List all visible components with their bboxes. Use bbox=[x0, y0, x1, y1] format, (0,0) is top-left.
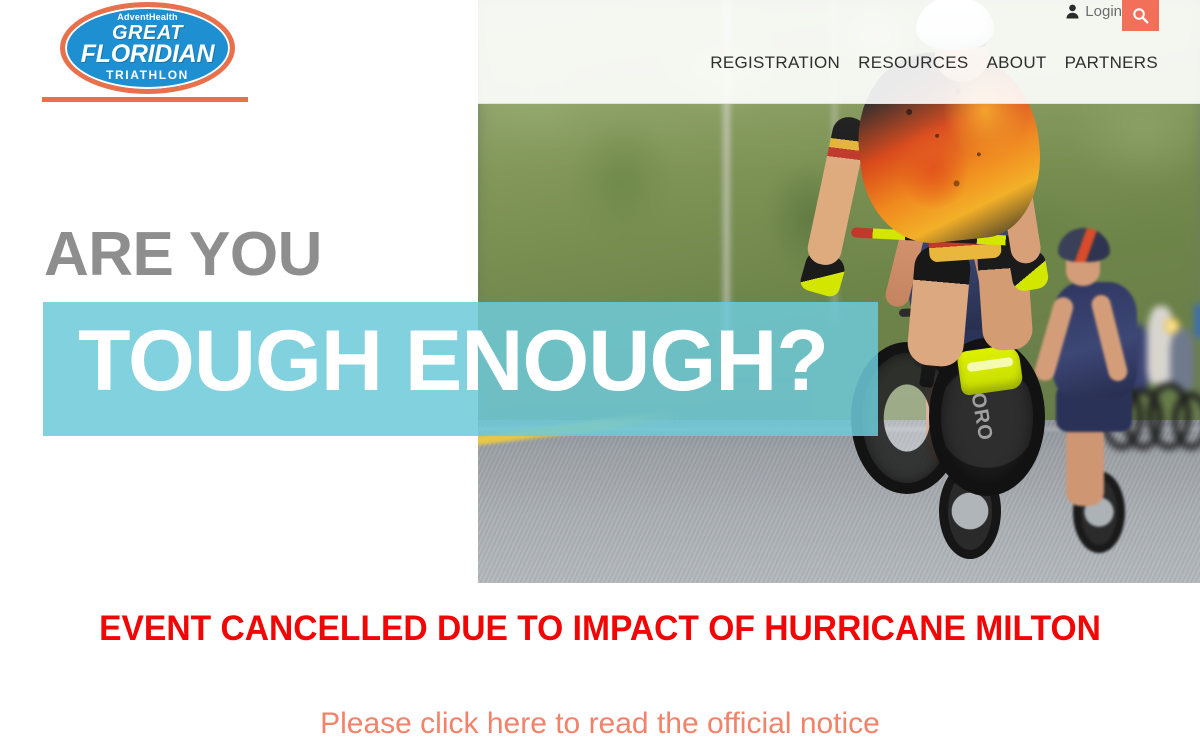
search-icon bbox=[1132, 7, 1149, 24]
nav-item-about[interactable]: ABOUT bbox=[987, 53, 1047, 73]
cancellation-notice: EVENT CANCELLED DUE TO IMPACT OF HURRICA… bbox=[24, 608, 1176, 651]
pack-rider bbox=[1170, 328, 1194, 390]
logo-line-floridian: FLORIDIAN bbox=[81, 43, 214, 67]
hero-headline-text: TOUGH ENOUGH? bbox=[78, 311, 828, 412]
logo-sponsor-text: AdventHealth bbox=[117, 13, 177, 22]
main-navigation: REGISTRATION RESOURCES ABOUT PARTNERS bbox=[710, 53, 1158, 73]
search-button[interactable] bbox=[1122, 0, 1159, 31]
wheel-branding: ORO bbox=[928, 391, 994, 441]
roadside-object bbox=[1194, 304, 1200, 338]
login-label: Login bbox=[1085, 4, 1122, 19]
hero-kicker-text: ARE YOU bbox=[44, 224, 322, 286]
nav-item-registration[interactable]: REGISTRATION bbox=[710, 53, 840, 73]
login-link[interactable]: Login bbox=[1066, 4, 1122, 19]
logo-oval-badge: AdventHealth GREAT FLORIDIAN TRIATHLON bbox=[60, 2, 235, 94]
logo-accent-bar bbox=[42, 97, 248, 102]
person-icon bbox=[1066, 4, 1079, 19]
official-notice-link[interactable]: Please click here to read the official n… bbox=[0, 706, 1200, 740]
cyclist-leg bbox=[906, 244, 972, 368]
nav-item-partners[interactable]: PARTNERS bbox=[1065, 53, 1158, 73]
cycling-shoe bbox=[956, 344, 1024, 396]
page-root: ORO bbox=[0, 0, 1200, 740]
logo-line-triathlon: TRIATHLON bbox=[106, 68, 189, 82]
nav-item-resources[interactable]: RESOURCES bbox=[858, 53, 968, 73]
site-logo[interactable]: AdventHealth GREAT FLORIDIAN TRIATHLON bbox=[60, 2, 235, 94]
